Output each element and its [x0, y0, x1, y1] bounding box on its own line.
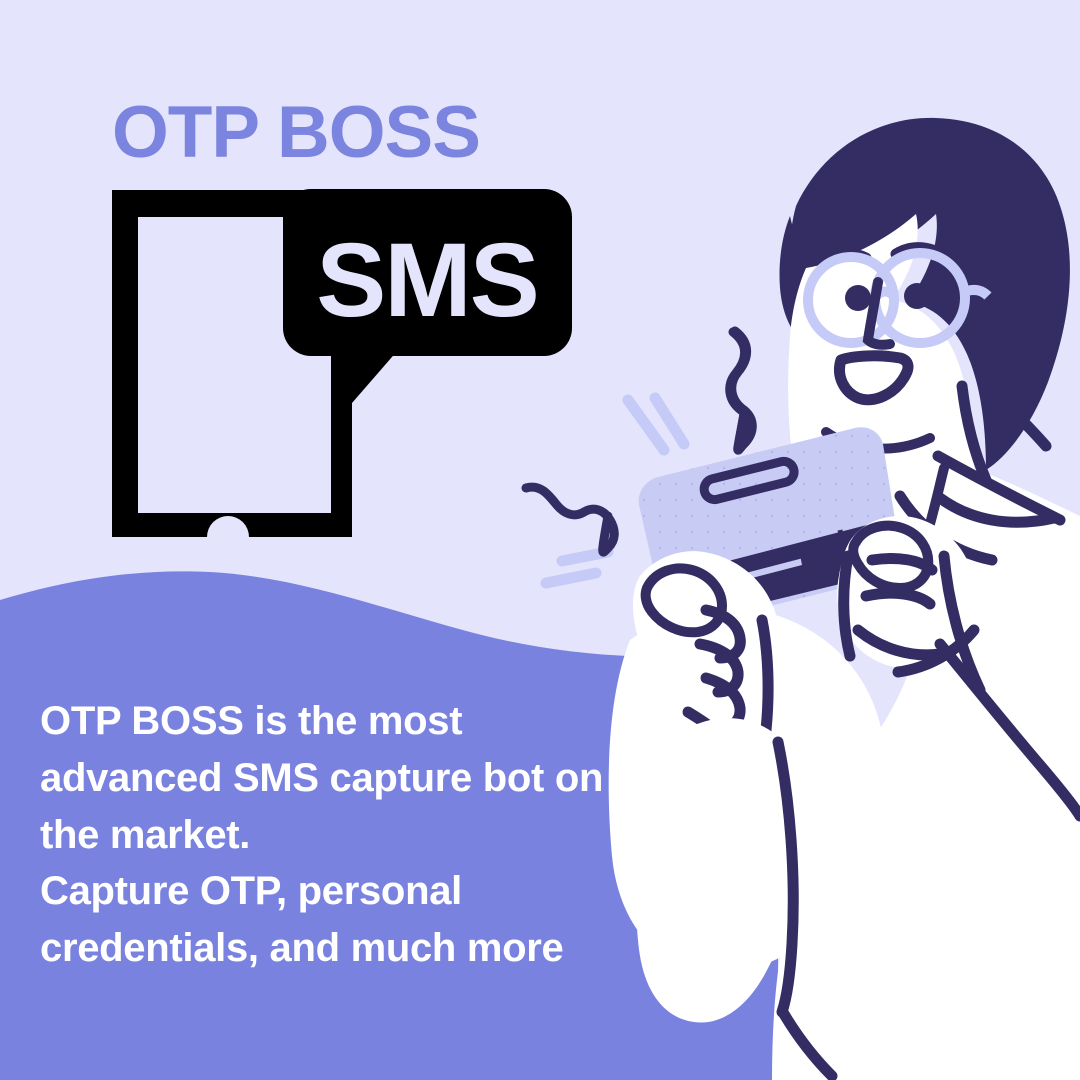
tagline-line-5: credentials, and much more [40, 920, 660, 977]
right-hand [837, 516, 1080, 816]
tagline-line-3: the market. [40, 807, 660, 864]
tagline-line-1: OTP BOSS is the most [40, 693, 660, 750]
arm-contour-lines [940, 386, 1054, 690]
tagline-line-2: advanced SMS capture bot on [40, 750, 660, 807]
tagline-block: OTP BOSS is the most advanced SMS captur… [40, 693, 660, 977]
torso-left-contour [636, 718, 832, 1076]
tagline-line-4: Capture OTP, personal [40, 863, 660, 920]
promo-banner: SMS [0, 0, 1080, 1080]
